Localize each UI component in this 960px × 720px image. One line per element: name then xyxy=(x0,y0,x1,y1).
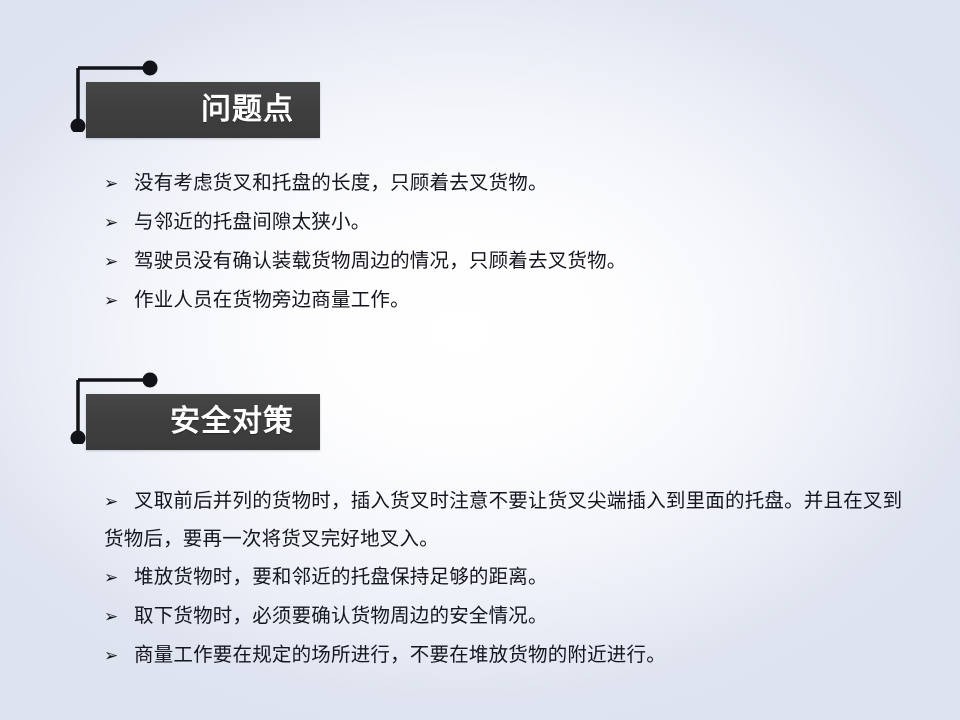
list-item: ➢ 没有考虑货叉和托盘的长度，只顾着去叉货物。 xyxy=(104,164,904,203)
heading-block: 问题点 xyxy=(0,60,960,142)
list-item: ➢ 驾驶员没有确认装载货物周边的情况，只顾着去叉货物。 xyxy=(104,242,904,281)
list-item-text: 商量工作要在规定的场所进行，不要在堆放货物的附近进行。 xyxy=(134,636,904,675)
problem-points-list: ➢ 没有考虑货叉和托盘的长度，只顾着去叉货物。 ➢ 与邻近的托盘间隙太狭小。 ➢… xyxy=(104,164,904,320)
list-item: ➢ 与邻近的托盘间隙太狭小。 xyxy=(104,203,904,242)
section-problem-points: 问题点 ➢ 没有考虑货叉和托盘的长度，只顾着去叉货物。 ➢ 与邻近的托盘间隙太狭… xyxy=(0,60,960,142)
slide-canvas: 问题点 ➢ 没有考虑货叉和托盘的长度，只顾着去叉货物。 ➢ 与邻近的托盘间隙太狭… xyxy=(0,0,960,720)
safety-measures-list: ➢ 叉取前后并列的货物时，插入货叉时注意不要让货叉尖端插入到里面的托盘。并且在叉… xyxy=(104,482,904,675)
list-item: ➢ 堆放货物时，要和邻近的托盘保持足够的距离。 xyxy=(104,558,904,597)
bullet-arrow-icon: ➢ xyxy=(104,636,134,675)
list-item: ➢ 叉取前后并列的货物时，插入货叉时注意不要让货叉尖端插入到里面的托盘。并且在叉… xyxy=(104,482,904,558)
list-item-text: 与邻近的托盘间隙太狭小。 xyxy=(134,203,904,242)
list-item-text: 堆放货物时，要和邻近的托盘保持足够的距离。 xyxy=(134,558,904,597)
section-title-box: 问题点 xyxy=(86,82,320,138)
list-item: ➢ 取下货物时，必须要确认货物周边的安全情况。 xyxy=(104,597,904,636)
section-title-text: 安全对策 xyxy=(170,407,294,437)
list-item-text: 取下货物时，必须要确认货物周边的安全情况。 xyxy=(134,597,904,636)
bullet-arrow-icon: ➢ xyxy=(104,203,134,242)
list-item: ➢ 作业人员在货物旁边商量工作。 xyxy=(104,281,904,320)
bullet-arrow-icon: ➢ xyxy=(104,281,134,320)
bullet-arrow-icon: ➢ xyxy=(104,164,134,203)
list-item-text: 叉取前后并列的货物时，插入货叉时注意不要让货叉尖端插入到里面的托盘。并且在叉到货… xyxy=(104,482,904,558)
section-title-box: 安全对策 xyxy=(86,394,320,450)
list-item-text: 驾驶员没有确认装载货物周边的情况，只顾着去叉货物。 xyxy=(134,242,904,281)
section-safety-measures: 安全对策 ➢ 叉取前后并列的货物时，插入货叉时注意不要让货叉尖端插入到里面的托盘… xyxy=(0,372,960,454)
list-item-text: 没有考虑货叉和托盘的长度，只顾着去叉货物。 xyxy=(134,164,904,203)
list-item-text: 作业人员在货物旁边商量工作。 xyxy=(134,281,904,320)
heading-block: 安全对策 xyxy=(0,372,960,454)
bullet-arrow-icon: ➢ xyxy=(104,558,134,597)
bullet-arrow-icon: ➢ xyxy=(104,597,134,636)
list-item: ➢ 商量工作要在规定的场所进行，不要在堆放货物的附近进行。 xyxy=(104,636,904,675)
section-title-text: 问题点 xyxy=(201,95,294,125)
bullet-arrow-icon: ➢ xyxy=(104,242,134,281)
